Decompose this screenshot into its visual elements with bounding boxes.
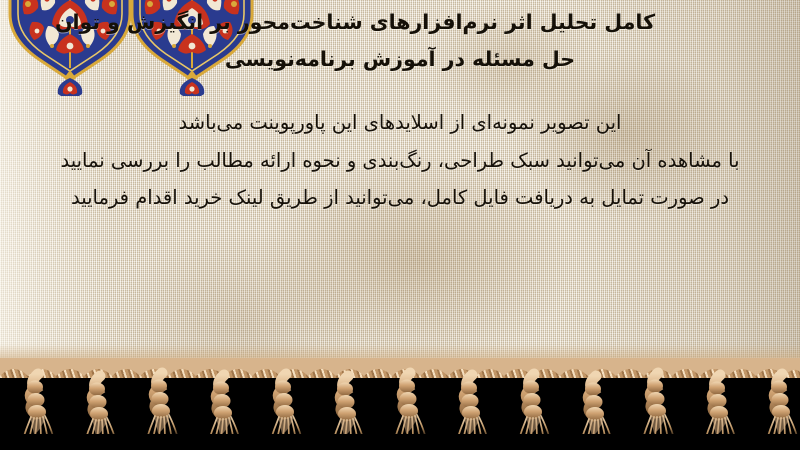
title-line-1: کامل تحلیل اثر نرم‌افزارهای شناخت‌محور ب… — [14, 4, 786, 41]
fringe-tassels — [0, 358, 800, 450]
body-line-2: با مشاهده آن می‌توانید سبک طراحی، رنگ‌بن… — [14, 142, 786, 180]
slide-title: کامل تحلیل اثر نرم‌افزارهای شناخت‌محور ب… — [14, 4, 786, 78]
slide-body: این تصویر نمونه‌ای از اسلایدهای این پاور… — [14, 104, 786, 217]
title-line-2: حل مسئله در آموزش برنامه‌نویسی — [14, 41, 786, 78]
presentation-slide: کامل تحلیل اثر نرم‌افزارهای شناخت‌محور ب… — [0, 0, 800, 450]
body-line-3: در صورت تمایل به دریافت فایل کامل، می‌تو… — [14, 179, 786, 217]
body-line-1: این تصویر نمونه‌ای از اسلایدهای این پاور… — [14, 104, 786, 142]
carpet-tassel-fringe — [0, 358, 800, 450]
